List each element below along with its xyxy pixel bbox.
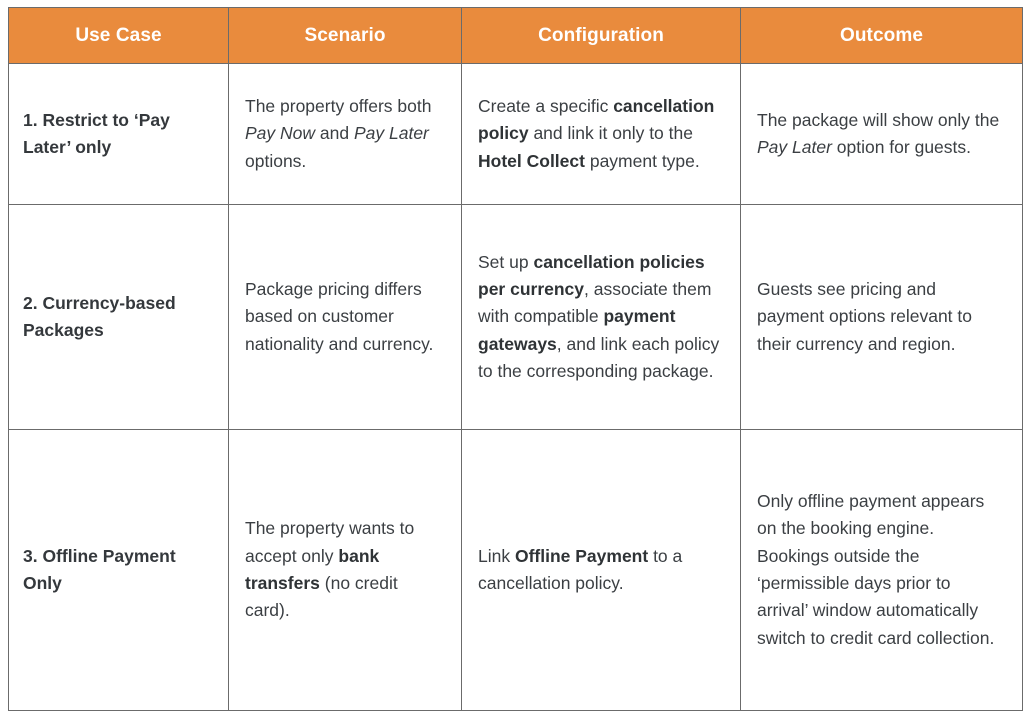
cell-outcome: Only offline payment appears on the book… xyxy=(741,430,1023,711)
cell-use-case: 1. Restrict to ‘Pay Later’ only xyxy=(9,64,229,205)
cell-configuration: Link Offline Payment to a cancellation p… xyxy=(462,430,741,711)
cell-use-case: 3. Offline Payment Only xyxy=(9,430,229,711)
cell-outcome: Guests see pricing and payment options r… xyxy=(741,205,1023,430)
table-header-row: Use Case Scenario Configuration Outcome xyxy=(9,8,1023,64)
column-header-configuration: Configuration xyxy=(462,8,741,64)
page-root: Use Case Scenario Configuration Outcome … xyxy=(0,0,1030,717)
cell-use-case: 2. Currency-based Packages xyxy=(9,205,229,430)
column-header-scenario: Scenario xyxy=(229,8,462,64)
table-header: Use Case Scenario Configuration Outcome xyxy=(9,8,1023,64)
table-row: 2. Currency-based Packages Package prici… xyxy=(9,205,1023,430)
table-body: 1. Restrict to ‘Pay Later’ only The prop… xyxy=(9,64,1023,711)
column-header-outcome: Outcome xyxy=(741,8,1023,64)
use-case-table: Use Case Scenario Configuration Outcome … xyxy=(8,7,1023,711)
cell-scenario: The property wants to accept only bank t… xyxy=(229,430,462,711)
table-row: 3. Offline Payment Only The property wan… xyxy=(9,430,1023,711)
cell-configuration: Set up cancellation policies per currenc… xyxy=(462,205,741,430)
cell-scenario: Package pricing differs based on custome… xyxy=(229,205,462,430)
table-row: 1. Restrict to ‘Pay Later’ only The prop… xyxy=(9,64,1023,205)
cell-scenario: The property offers both Pay Now and Pay… xyxy=(229,64,462,205)
cell-outcome: The package will show only the Pay Later… xyxy=(741,64,1023,205)
cell-configuration: Create a specific cancellation policy an… xyxy=(462,64,741,205)
column-header-use-case: Use Case xyxy=(9,8,229,64)
